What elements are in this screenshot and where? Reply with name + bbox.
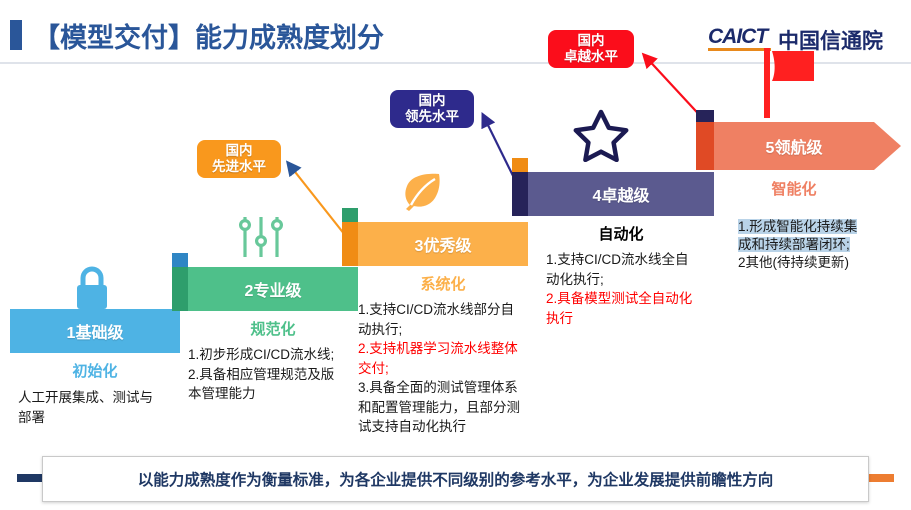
- sliders-icon: [237, 215, 285, 266]
- level-3-line: 和配置管理能力，且部分测: [358, 398, 538, 418]
- level-4-label: 4卓越级: [528, 172, 714, 216]
- callout-excellent-level[interactable]: 国内 卓越水平: [548, 30, 634, 68]
- level-5-bevel: [696, 122, 714, 170]
- star-icon: [573, 108, 629, 167]
- banner-box: 以能力成熟度作为衡量标准，为各企业提供不同级别的参考水平，为企业发展提供前瞻性方…: [42, 456, 869, 502]
- level-5-label: 5领航级: [714, 122, 874, 170]
- level-3-line: 试支持自动化执行: [358, 417, 538, 437]
- level-4-subtitle: 自动化: [528, 223, 714, 244]
- callout-leading-level[interactable]: 国内 领先水平: [390, 90, 474, 128]
- level-3-line-highlight: 交付;: [358, 359, 538, 379]
- level-4-bevel: [512, 172, 528, 216]
- level-3-line: 动执行;: [358, 320, 538, 340]
- level-3-bevel: [342, 222, 358, 266]
- callout-advanced-level[interactable]: 国内 先进水平: [197, 140, 281, 178]
- level-2-label: 2专业级: [188, 267, 358, 311]
- callout-line2: 卓越水平: [564, 49, 618, 65]
- level-2-line: 1.初步形成CI/CD流水线;: [188, 345, 360, 365]
- banner-text: 以能力成熟度作为衡量标准，为各企业提供不同级别的参考水平，为企业发展提供前瞻性方…: [138, 468, 774, 490]
- flag-icon: [762, 48, 816, 123]
- level-2-line: 2.具备相应管理规范及版: [188, 365, 360, 385]
- level-step-3[interactable]: 3优秀级: [358, 222, 528, 266]
- page-title: 【模型交付】能力成熟度划分: [33, 16, 384, 55]
- level-4-bevel-top: [512, 158, 528, 172]
- level-1-line: 部署: [18, 408, 183, 428]
- level-step-2[interactable]: 2专业级: [188, 267, 358, 311]
- level-4-line: 动化执行;: [546, 270, 722, 290]
- callout-line1: 国内: [419, 93, 446, 109]
- level-step-4[interactable]: 4卓越级: [528, 172, 714, 216]
- level-step-5[interactable]: 5领航级: [714, 122, 874, 170]
- title-accent-bar: [10, 20, 22, 50]
- level-5-arrow-head: [874, 122, 901, 170]
- level-1-description: 人工开展集成、测试与 部署: [18, 388, 183, 427]
- level-5-line: 2其他(待持续更新): [738, 254, 903, 272]
- logo-mark-text: CAICT: [708, 25, 767, 49]
- level-2-bevel: [172, 267, 188, 311]
- summary-banner: 以能力成熟度作为衡量标准，为各企业提供不同级别的参考水平，为企业发展提供前瞻性方…: [17, 456, 894, 502]
- callout-line2: 领先水平: [405, 109, 459, 125]
- level-2-line: 本管理能力: [188, 384, 360, 404]
- level-3-label: 3优秀级: [358, 222, 528, 266]
- level-1-label: 1基础级: [10, 309, 180, 353]
- level-4-line: 1.支持CI/CD流水线全自: [546, 250, 722, 270]
- level-2-subtitle: 规范化: [188, 318, 358, 339]
- level-3-bevel-top: [342, 208, 358, 222]
- level-step-1[interactable]: 1基础级: [10, 309, 180, 353]
- slide-canvas: 【模型交付】能力成熟度划分 CAICT 中国信通院: [0, 0, 911, 510]
- level-4-line-highlight: 执行: [546, 309, 722, 329]
- leaf-icon: [400, 170, 444, 217]
- level-5-description: 1.形成智能化持续集 成和持续部署闭环; 2其他(待持续更新): [738, 218, 903, 273]
- level-3-subtitle: 系统化: [358, 273, 528, 294]
- callout-line2: 先进水平: [212, 159, 266, 175]
- level-4-line-highlight: 2.具备模型测试全自动化: [546, 289, 722, 309]
- level-5-line-selected: 1.形成智能化持续集: [738, 219, 857, 234]
- callout-line1: 国内: [226, 143, 253, 159]
- level-5-subtitle: 智能化: [714, 178, 874, 199]
- level-1-subtitle: 初始化: [10, 360, 180, 381]
- level-2-description: 1.初步形成CI/CD流水线; 2.具备相应管理规范及版 本管理能力: [188, 345, 360, 404]
- level-3-description: 1.支持CI/CD流水线部分自 动执行; 2.支持机器学习流水线整体 交付; 3…: [358, 300, 538, 437]
- level-5-bevel-top: [696, 110, 714, 122]
- callout-line1: 国内: [578, 33, 605, 49]
- level-5-line-selected: 成和持续部署闭环;: [738, 237, 850, 252]
- level-1-line: 人工开展集成、测试与: [18, 388, 183, 408]
- level-3-line-highlight: 2.支持机器学习流水线整体: [358, 339, 538, 359]
- level-3-line: 1.支持CI/CD流水线部分自: [358, 300, 538, 320]
- level-2-bevel-top: [172, 253, 188, 267]
- level-3-line: 3.具备全面的测试管理体系: [358, 378, 538, 398]
- level-4-description: 1.支持CI/CD流水线全自 动化执行; 2.具备模型测试全自动化 执行: [546, 250, 722, 328]
